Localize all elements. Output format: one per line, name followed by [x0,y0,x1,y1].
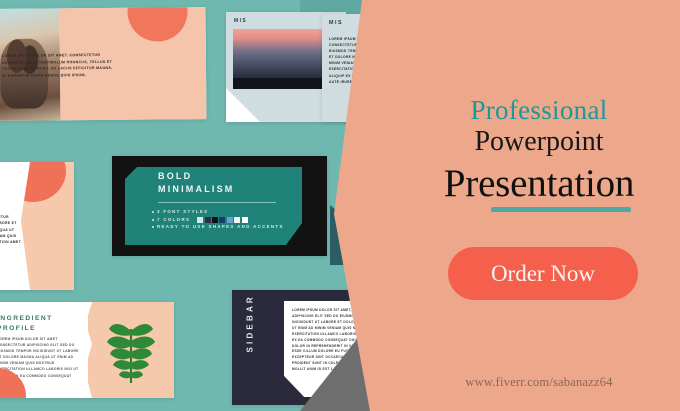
list-item-label: 3 FONT STYLES [157,208,208,216]
slide-body-text: SIT AMET CONSECTETUR ADIPISCING ELIT LAB… [0,214,22,245]
corner-cut-decor [226,88,260,122]
color-swatch [197,217,203,223]
color-swatch [212,217,218,223]
slide-title: INGREDIENT PROFILE [0,314,53,334]
list-item: 3 FONT STYLES [152,208,302,216]
slide-title-line2: PROFILE [0,324,53,334]
gig-thumbnail: LOREM IPSUM DOLOR SIT AMET, CONSECTETUR … [0,0,680,411]
sidebar-label: SIDEBAR [246,297,255,353]
color-swatch [205,217,211,223]
fiverr-url: www.fiverr.com/sabanazz64 [408,375,670,390]
slide-body-text: LOREM IPSUM DOLOR SIT AMET, CONSECTETUR … [2,52,114,80]
bullet-dot-icon [152,219,154,221]
slide-title-line1: BOLD [158,170,235,183]
slide-title-line2: MINIMALISM [158,183,235,196]
bullet-dot-icon [152,211,154,213]
slide-bold-minimalism: BOLD MINIMALISM 3 FONT STYLES 7 COLORS R… [112,156,327,256]
headline-line-presentation: Presentation [408,162,670,206]
list-item-label: 7 COLORS [157,216,190,224]
slide-title: MIS [234,18,247,24]
slide-title: MIS [329,20,343,26]
title-divider [158,202,276,203]
list-item: 7 COLORS [152,216,302,224]
color-swatch [227,217,233,223]
order-now-button[interactable]: Order Now [448,247,638,300]
coral-circle-decor [127,7,188,42]
slide-photo-lorem: LOREM IPSUM DOLOR SIT AMET, CONSECTETUR … [0,7,206,121]
color-swatch [234,217,240,223]
feature-list: 3 FONT STYLES 7 COLORS READY TO USE SHAP… [152,208,302,231]
slide-left-partial: SIT AMET CONSECTETUR ADIPISCING ELIT LAB… [0,162,74,290]
slide-title-line1: INGREDIENT [0,314,53,324]
headline-line-powerpoint: Powerpoint [408,125,670,159]
color-swatch-group [197,217,247,223]
headline-line-professional: Professional [408,96,670,124]
list-item-label: READY TO USE SHAPES AND ACCENTS [157,223,284,231]
slide-ingredient-profile: INGREDIENT PROFILE LOREM IPSUM DOLOR SIT… [0,302,174,398]
headline-underline [491,207,631,212]
sidebar-tab-shape [232,313,288,405]
promo-headline: Professional Powerpoint Presentation [408,96,670,212]
color-swatch [242,217,248,223]
color-swatch [219,217,225,223]
bullet-dot-icon [152,226,154,228]
monstera-leaf-icon [104,315,158,385]
slide-title: BOLD MINIMALISM [158,170,235,196]
list-item: READY TO USE SHAPES AND ACCENTS [152,223,302,231]
